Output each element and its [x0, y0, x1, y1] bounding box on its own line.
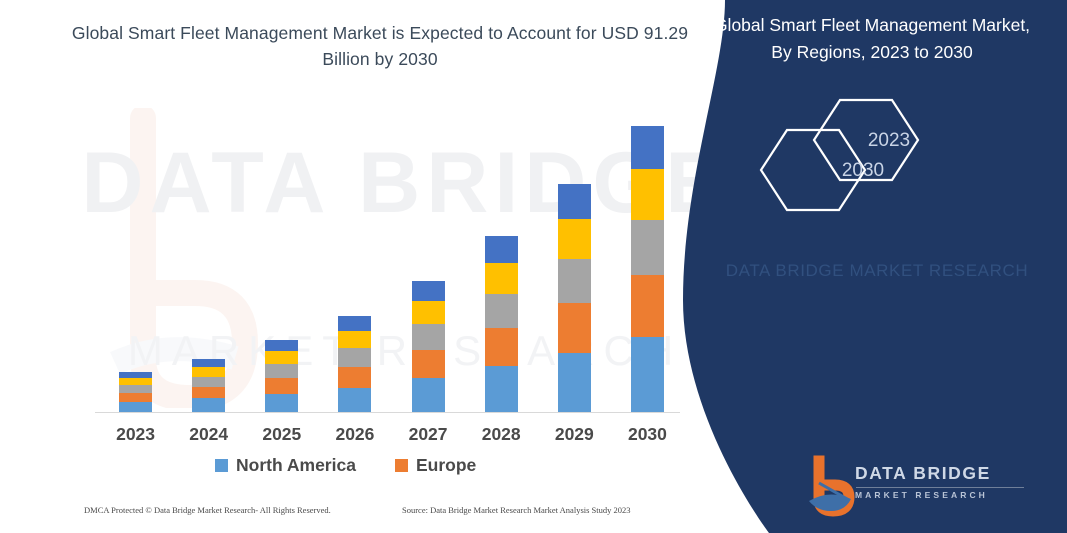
bar-2029[interactable] [558, 184, 591, 412]
bar-2026[interactable] [338, 316, 371, 412]
bar-segment-middle-east-and-africa-2029 [558, 184, 591, 219]
legend-label: North America [236, 455, 356, 476]
bar-2027[interactable] [412, 281, 445, 412]
bar-segment-europe-2026 [338, 367, 371, 388]
bar-segment-europe-2028 [485, 328, 518, 366]
bar-segment-europe-2030 [631, 275, 664, 337]
infographic-root: DATA BRIDGE MARKET RESEARCH Global Smart… [0, 0, 1067, 533]
hexagon-group: 2030 2023 [677, 80, 1067, 220]
bar-2024[interactable] [192, 359, 225, 412]
x-axis-label-2027: 2027 [392, 424, 464, 445]
brand-divider [856, 487, 1024, 488]
side-panel: Global Smart Fleet Management Market, By… [677, 0, 1067, 533]
bar-segment-north-america-2026 [338, 388, 371, 412]
bar-segment-south-america-2026 [338, 331, 371, 348]
brand-wordmark: DATA BRIDGE MARKET RESEARCH [855, 463, 1024, 500]
bar-segment-europe-2023 [119, 393, 152, 402]
bar-segment-asia-pacific-2025 [265, 364, 298, 378]
bar-segment-asia-pacific-2024 [192, 377, 225, 387]
bar-segment-south-america-2029 [558, 219, 591, 259]
hexagon-label-2023: 2023 [840, 130, 938, 152]
bar-segment-asia-pacific-2027 [412, 324, 445, 349]
legend-item-europe[interactable]: Europe [395, 455, 476, 476]
x-axis-label-2030: 2030 [611, 424, 683, 445]
x-axis-label-2028: 2028 [465, 424, 537, 445]
bar-segment-asia-pacific-2023 [119, 385, 152, 393]
legend-label: Europe [416, 455, 476, 476]
brand-name-top: DATA BRIDGE [855, 463, 1024, 484]
bar-segment-asia-pacific-2029 [558, 259, 591, 303]
footer-dmca-text: DMCA Protected © Data Bridge Market Rese… [84, 505, 331, 515]
bar-segment-middle-east-and-africa-2030 [631, 126, 664, 169]
bar-segment-north-america-2024 [192, 398, 225, 412]
bar-segment-europe-2029 [558, 303, 591, 353]
bar-segment-middle-east-and-africa-2026 [338, 316, 371, 331]
bar-segment-asia-pacific-2030 [631, 220, 664, 275]
x-axis-line [95, 412, 680, 413]
bar-segment-europe-2024 [192, 387, 225, 399]
chart-legend: North AmericaEurope [95, 455, 680, 481]
x-axis-label-2029: 2029 [538, 424, 610, 445]
page-title: Global Smart Fleet Management Market is … [60, 20, 700, 73]
bar-segment-asia-pacific-2028 [485, 294, 518, 328]
bar-segment-asia-pacific-2026 [338, 348, 371, 367]
bar-2025[interactable] [265, 340, 298, 412]
bar-segment-europe-2025 [265, 378, 298, 394]
x-axis-label-2023: 2023 [100, 424, 172, 445]
bar-segment-south-america-2027 [412, 301, 445, 324]
panel-watermark-text: DATA BRIDGE MARKET RESEARCH [717, 258, 1037, 284]
bar-segment-middle-east-and-africa-2027 [412, 281, 445, 301]
bar-segment-south-america-2025 [265, 351, 298, 364]
bar-segment-south-america-2030 [631, 169, 664, 220]
bar-segment-middle-east-and-africa-2025 [265, 340, 298, 351]
legend-swatch-icon [395, 459, 408, 472]
x-axis-label-2026: 2026 [319, 424, 391, 445]
bar-segment-europe-2027 [412, 350, 445, 378]
legend-item-north-america[interactable]: North America [215, 455, 356, 476]
bar-segment-south-america-2028 [485, 263, 518, 294]
x-axis-label-2024: 2024 [173, 424, 245, 445]
hexagon-label-2030: 2030 [814, 160, 912, 182]
bar-2023[interactable] [119, 372, 152, 412]
bar-segment-north-america-2023 [119, 402, 152, 412]
bar-2028[interactable] [485, 236, 518, 412]
chart-panel: DATA BRIDGE MARKET RESEARCH Global Smart… [0, 0, 760, 533]
bar-2030[interactable] [631, 126, 664, 412]
bar-segment-north-america-2028 [485, 366, 518, 412]
x-axis-label-2025: 2025 [246, 424, 318, 445]
bar-segment-north-america-2030 [631, 337, 664, 412]
bar-segment-south-america-2024 [192, 367, 225, 376]
footer-source-text: Source: Data Bridge Market Research Mark… [402, 505, 631, 515]
bar-segment-north-america-2029 [558, 353, 591, 412]
x-axis-labels: 20232024202520262027202820292030 [95, 424, 680, 452]
bar-segment-middle-east-and-africa-2024 [192, 359, 225, 367]
bar-segment-north-america-2025 [265, 394, 298, 412]
bar-segment-north-america-2027 [412, 378, 445, 412]
footer: DMCA Protected © Data Bridge Market Rese… [84, 505, 724, 525]
brand-name-bottom: MARKET RESEARCH [855, 490, 1024, 500]
bar-plot-area [95, 100, 680, 412]
bar-segment-middle-east-and-africa-2028 [485, 236, 518, 263]
panel-title: Global Smart Fleet Management Market, By… [707, 12, 1037, 66]
legend-swatch-icon [215, 459, 228, 472]
bar-segment-south-america-2023 [119, 378, 152, 385]
